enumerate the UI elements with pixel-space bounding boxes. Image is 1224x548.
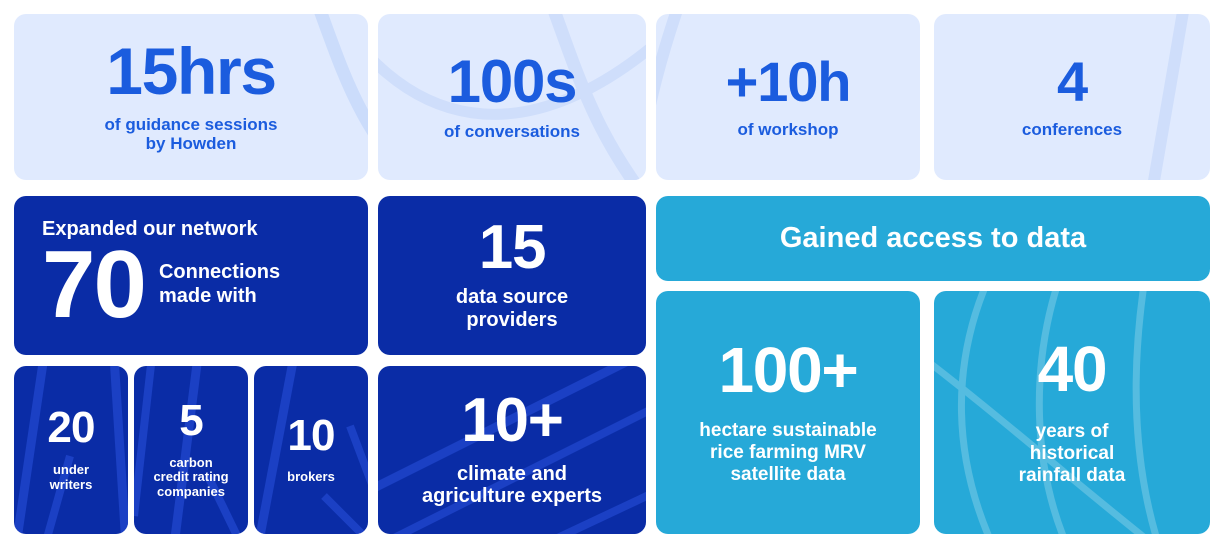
stat-label: data sourceproviders	[388, 286, 636, 332]
stat-card-historical-rainfall: 40 years ofhistoricalrainfall data	[934, 291, 1210, 534]
stat-label: of conversations	[388, 122, 636, 141]
stat-label: years ofhistoricalrainfall data	[944, 421, 1200, 486]
stat-value: 20	[24, 407, 118, 449]
stat-label: conferences	[944, 120, 1200, 139]
stat-value: 5	[144, 400, 238, 442]
stat-label: climate andagriculture experts	[388, 463, 636, 509]
stat-value: 10+	[388, 392, 636, 451]
stat-value: 10	[264, 415, 358, 457]
stat-label: of workshop	[666, 120, 910, 139]
stat-label: hectare sustainablerice farming MRVsatel…	[666, 420, 910, 485]
stat-label: underwriters	[24, 463, 118, 493]
stat-label: brokers	[264, 470, 358, 485]
stat-label: of guidance sessionsby Howden	[24, 115, 358, 154]
stat-card-conversations: 100s of conversations	[378, 14, 646, 180]
network-value-row: 70 Connectionsmade with	[42, 237, 368, 333]
stat-card-brokers: 10 brokers	[254, 366, 368, 534]
stat-card-network-connections: Expanded our network 70 Connectionsmade …	[14, 196, 368, 355]
stat-value: 100s	[388, 53, 636, 110]
stat-value: 15	[388, 219, 636, 278]
stat-value: 4	[944, 55, 1200, 108]
stat-value: 15hrs	[24, 40, 358, 103]
infographic-board: 15hrs of guidance sessionsby Howden 100s…	[0, 0, 1224, 548]
stat-value: 70	[42, 237, 145, 333]
stat-value: +10h	[666, 55, 910, 108]
banner-gained-access-to-data: Gained access to data	[656, 196, 1210, 281]
stat-card-hectare-rice-farming: 100+ hectare sustainablerice farming MRV…	[656, 291, 920, 534]
stat-card-carbon-credit-rating-companies: 5 carboncredit ratingcompanies	[134, 366, 248, 534]
stat-label: Connectionsmade with	[159, 261, 280, 308]
stat-card-data-source-providers: 15 data sourceproviders	[378, 196, 646, 355]
banner-title: Gained access to data	[780, 222, 1086, 254]
stat-label: carboncredit ratingcompanies	[144, 456, 238, 500]
stat-card-guidance-hours: 15hrs of guidance sessionsby Howden	[14, 14, 368, 180]
stat-card-conferences: 4 conferences	[934, 14, 1210, 180]
stat-value: 100+	[666, 340, 910, 401]
stat-value: 40	[944, 339, 1200, 400]
stat-card-underwriters: 20 underwriters	[14, 366, 128, 534]
stat-card-workshop: +10h of workshop	[656, 14, 920, 180]
stat-card-climate-agriculture-experts: 10+ climate andagriculture experts	[378, 366, 646, 534]
